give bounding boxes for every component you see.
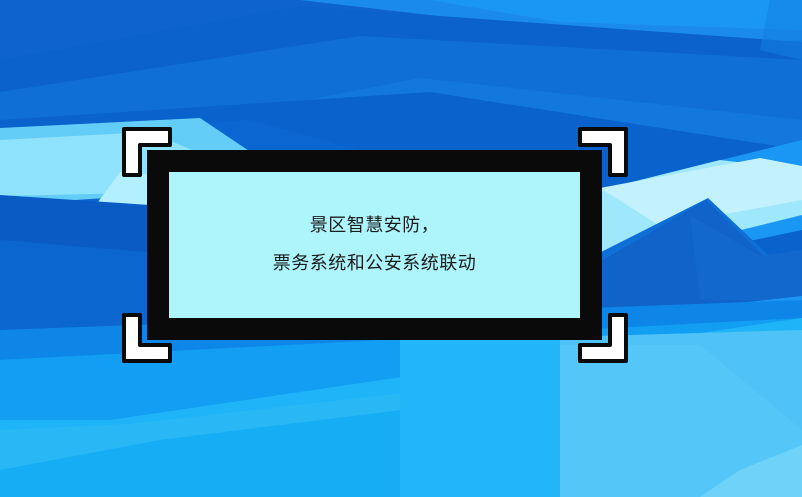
title-card-frame: 景区智慧安防， 票务系统和公安系统联动 bbox=[147, 150, 602, 340]
corner-bracket-bottom-left-icon bbox=[121, 312, 173, 364]
corner-bracket-bottom-right-icon bbox=[577, 312, 629, 364]
title-card-inner: 景区智慧安防， 票务系统和公安系统联动 bbox=[169, 172, 580, 318]
page-title: 景区智慧安防， 票务系统和公安系统联动 bbox=[273, 207, 477, 283]
slide-canvas: 景区智慧安防， 票务系统和公安系统联动 bbox=[0, 0, 802, 497]
corner-bracket-top-left-icon bbox=[121, 126, 173, 178]
corner-bracket-top-right-icon bbox=[577, 126, 629, 178]
bg-shape-bottom-right-strip bbox=[400, 340, 560, 497]
